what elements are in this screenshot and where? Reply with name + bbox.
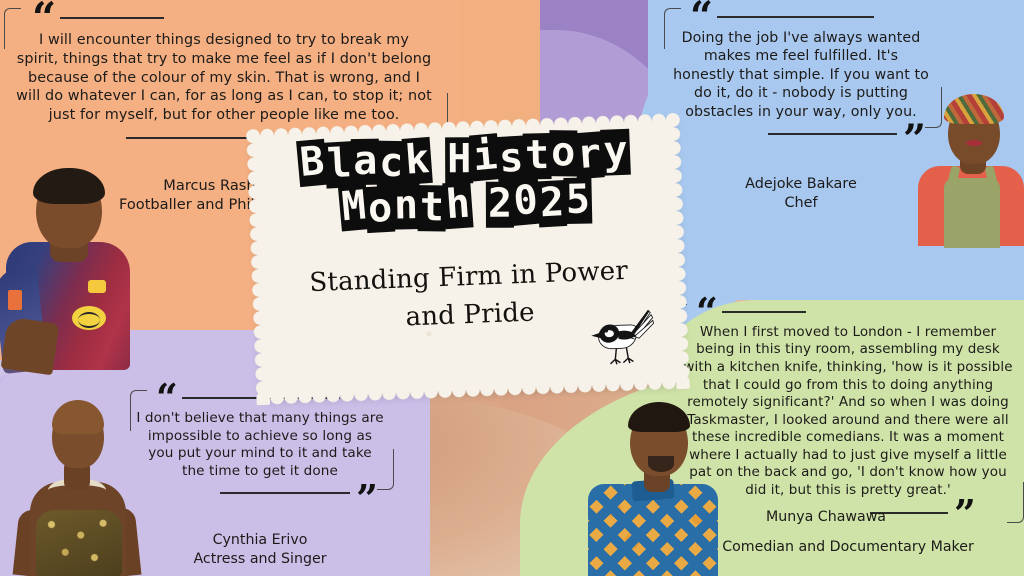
quote-text: Doing the job I've always wanted makes m… bbox=[668, 28, 934, 121]
title-char: t bbox=[523, 133, 552, 179]
quote-rule-bottom bbox=[220, 492, 350, 494]
portrait-apron bbox=[944, 178, 1000, 248]
title-char: t bbox=[417, 185, 446, 231]
quote-close-row: ” bbox=[134, 481, 386, 504]
quote-bracket-top-left bbox=[664, 8, 681, 49]
portrait-headwrap bbox=[944, 94, 1004, 124]
quote-rule-top bbox=[717, 16, 874, 18]
quote-open-mark: “ bbox=[696, 302, 716, 323]
quote-attribution: Adejoke Bakare Chef bbox=[668, 175, 934, 213]
portrait-beard bbox=[648, 456, 674, 472]
quote-open-mark: “ bbox=[156, 388, 176, 409]
quote-rule-top bbox=[60, 17, 164, 19]
portrait-smile bbox=[966, 140, 982, 146]
portrait-arm bbox=[1, 317, 60, 376]
quote-open-row: “ bbox=[668, 6, 934, 28]
title-char: c bbox=[377, 141, 406, 187]
quote-author-name-wrap: Munya Chawawa bbox=[676, 508, 976, 527]
quote-author-name: Cynthia Erivo bbox=[134, 531, 386, 550]
quote-open-mark: “ bbox=[32, 6, 54, 29]
quote-rule-bottom bbox=[768, 133, 897, 135]
quote-attribution: Cynthia Erivo Actress and Singer bbox=[134, 531, 386, 568]
quote-bracket-bottom-right bbox=[377, 449, 394, 490]
quote-bracket-bottom-right bbox=[1007, 482, 1024, 523]
quote-block-chawawa: “ When I first moved to London - I remem… bbox=[676, 302, 1020, 557]
portrait-shaved-head bbox=[52, 400, 104, 434]
quote-author-name: Adejoke Bakare bbox=[668, 175, 934, 194]
quote-open-row: “ bbox=[6, 6, 442, 29]
title-char: o bbox=[364, 185, 395, 232]
portrait-sleeve-badge bbox=[8, 290, 22, 310]
portrait-sponsor-logo bbox=[72, 306, 106, 330]
quote-author-role: Chef bbox=[668, 194, 934, 213]
portrait-sequin-dress bbox=[36, 510, 122, 576]
quote-author-name: Munya Chawawa bbox=[676, 508, 976, 527]
quote-rule-top bbox=[722, 311, 806, 313]
quote-bracket-bottom-right bbox=[925, 87, 942, 128]
quote-close-row: ” bbox=[668, 121, 934, 145]
quote-open-row: “ bbox=[676, 302, 1020, 323]
portrait-crest bbox=[88, 280, 106, 293]
bird-icon bbox=[586, 295, 661, 372]
title-char: n bbox=[391, 183, 420, 229]
poster-title: Black History Month 2025 bbox=[253, 128, 676, 236]
quote-author-role: Actress and Singer bbox=[134, 550, 386, 569]
subtitle-line-1: Standing Firm in Power bbox=[309, 256, 629, 298]
quote-open-mark: “ bbox=[690, 6, 711, 28]
quote-block-bakare: “ Doing the job I've always wanted makes… bbox=[668, 6, 934, 213]
quote-text: When I first moved to London - I remembe… bbox=[676, 323, 1020, 499]
quote-text: I don't believe that many things are imp… bbox=[134, 409, 386, 481]
title-char: a bbox=[350, 139, 379, 185]
quote-close-mark: ” bbox=[356, 489, 376, 510]
portrait-cynthia-erivo bbox=[14, 390, 140, 576]
title-char: 5 bbox=[564, 177, 593, 223]
quote-text: I will encounter things designed to try … bbox=[6, 29, 442, 125]
quote-close-mark: ” bbox=[903, 129, 924, 151]
title-char: l bbox=[324, 141, 355, 188]
title-char: y bbox=[601, 129, 631, 176]
poster-canvas: “ I will encounter things designed to tr… bbox=[0, 0, 1024, 576]
title-card: Black History Month 2025 Standing Firm i… bbox=[253, 120, 683, 398]
quote-block-erivo: “ I don't believe that many things are i… bbox=[134, 388, 386, 569]
quote-close-row: ” Munya Chawawa bbox=[676, 500, 1020, 542]
quote-bracket-top-left bbox=[130, 390, 147, 431]
quote-bracket-top-left bbox=[4, 8, 21, 49]
